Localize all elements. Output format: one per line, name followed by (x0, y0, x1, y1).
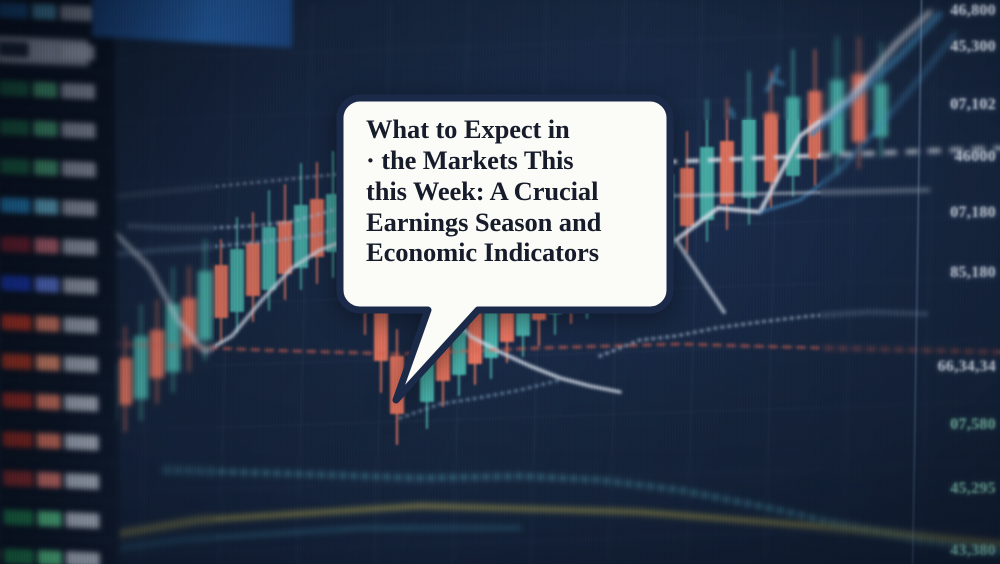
candle-body (786, 97, 800, 176)
ticker-row[interactable] (0, 419, 119, 463)
ticker-symbol (0, 41, 29, 57)
ticker-symbol (0, 119, 30, 135)
ticker-price (60, 4, 94, 20)
ticker-symbol (0, 2, 28, 18)
ticker-symbol (1, 275, 31, 291)
ticker-price (64, 395, 98, 411)
ticker-price (65, 512, 99, 528)
ticker-price (63, 239, 97, 255)
ticker-price (61, 82, 95, 98)
ticker-symbol (2, 392, 32, 408)
ticker-change (35, 315, 59, 331)
ticker-row[interactable] (0, 341, 118, 385)
ticker-change (36, 393, 60, 409)
headline-line-2: · the Markets This (366, 145, 646, 176)
candle-body (830, 80, 844, 154)
candle-body (294, 205, 308, 268)
price-axis-label: 07,102 (950, 96, 996, 114)
ticker-price (66, 551, 100, 564)
price-axis-label: 45,300 (950, 38, 996, 56)
ticker-price (63, 317, 97, 333)
ticker-change (32, 3, 56, 19)
candle-body (742, 119, 756, 198)
candle-body (852, 74, 866, 143)
ticker-change (33, 42, 57, 58)
ticker-row[interactable] (0, 497, 120, 541)
candle-body (214, 265, 228, 318)
candle-body (278, 221, 292, 274)
ticker-row[interactable] (0, 185, 116, 229)
candle-body (680, 168, 694, 226)
ticker-row[interactable] (0, 146, 116, 190)
candle-body (198, 271, 212, 340)
ticker-row[interactable] (0, 536, 120, 564)
candle-body (166, 304, 180, 373)
ticker-symbol (1, 314, 31, 330)
ticker-symbol (0, 80, 29, 96)
headline-line-5: Economic Indicators (366, 237, 646, 268)
ticker-change (37, 432, 61, 448)
candle-body (230, 249, 244, 312)
headline-line-1: What to Expect in (366, 114, 646, 145)
ticker-change (37, 471, 61, 487)
ticker-change (34, 198, 58, 214)
candle-body (720, 141, 734, 204)
price-axis-label: 66,34,34 (938, 358, 996, 376)
ticker-symbol (3, 431, 33, 447)
price-axis-label: 46,800 (950, 2, 996, 20)
candle-body (134, 336, 148, 399)
ticker-change (33, 120, 57, 136)
ticker-symbol (0, 197, 30, 213)
ticker-price (64, 356, 98, 372)
ticker-symbol (0, 158, 30, 174)
candle-body (118, 358, 132, 406)
ticker-symbol (4, 548, 34, 564)
ticker-symbol (1, 236, 31, 252)
ticker-row[interactable] (0, 458, 119, 502)
price-axis-label: 46000 (955, 148, 997, 166)
trading-terminal-screenshot: 46,80045,30007,1024600007,18085,18066,34… (0, 0, 1000, 564)
ticker-row[interactable] (0, 302, 118, 346)
headline-line-3: this Week: A Crucial (366, 176, 646, 207)
candle-body (874, 84, 888, 137)
candle-body (262, 227, 276, 290)
ticker-price (62, 160, 96, 176)
candle-body (700, 147, 714, 221)
candle-body (150, 330, 164, 378)
left-ticker-panel[interactable] (0, 0, 120, 564)
ticker-row[interactable] (0, 263, 117, 307)
candle-body (246, 243, 260, 296)
ticker-price (65, 434, 99, 450)
ticker-symbol (3, 509, 33, 525)
price-axis-label: 43,380 (950, 542, 996, 560)
ticker-row[interactable] (0, 68, 115, 112)
headline-text: What to Expect in · the Markets This thi… (366, 114, 646, 268)
ticker-price (62, 199, 96, 215)
headline-speech-bubble[interactable]: What to Expect in · the Markets This thi… (336, 92, 674, 404)
ticker-price (61, 43, 95, 59)
ticker-row[interactable] (0, 380, 118, 424)
headline-line-4: Earnings Season and (366, 207, 646, 238)
ticker-change (37, 510, 61, 526)
price-axis-label: 45,295 (950, 480, 996, 498)
ticker-change (36, 354, 60, 370)
ticker-row[interactable] (0, 107, 116, 151)
ticker-price (63, 278, 97, 294)
candle-body (808, 91, 822, 160)
candle-body (182, 298, 196, 346)
ticker-symbol (2, 353, 32, 369)
ticker-change (38, 549, 62, 564)
ticker-change (35, 276, 59, 292)
price-axis-label: 85,180 (950, 264, 996, 282)
ticker-price (61, 121, 95, 137)
candle-body (764, 113, 778, 182)
ticker-row[interactable] (0, 224, 117, 268)
ticker-symbol (3, 470, 33, 486)
right-price-axis[interactable]: 46,80045,30007,1024600007,18085,18066,34… (914, 0, 1000, 564)
candle-body (310, 199, 324, 257)
ticker-price (65, 473, 99, 489)
price-axis-label: 07,580 (950, 416, 996, 434)
ticker-change (33, 81, 57, 97)
ticker-change (35, 237, 59, 253)
ticker-change (34, 159, 58, 175)
price-axis-label: 07,180 (950, 204, 996, 222)
